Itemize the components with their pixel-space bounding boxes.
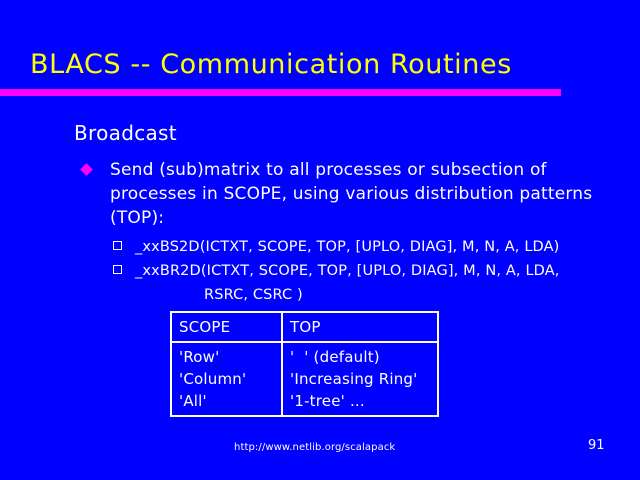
section-subheading: Broadcast <box>74 121 177 145</box>
top-value-default: ' ' (default) <box>290 346 437 368</box>
hollow-square-bullet-icon <box>113 241 122 250</box>
hollow-square-bullet-icon <box>113 265 122 274</box>
table-cell-scope-values: 'Row' 'Column' 'All' <box>171 342 282 416</box>
top-value-one-tree: '1-tree' ... <box>290 390 437 412</box>
sub-bullet-text-1: _xxBS2D(ICTXT, SCOPE, TOP, [UPLO, DIAG],… <box>135 237 605 258</box>
table-header-scope: SCOPE <box>171 312 282 342</box>
main-bullet-text: Send (sub)matrix to all processes or sub… <box>110 158 628 230</box>
scope-value-row: 'Row' <box>179 346 281 368</box>
table-header-row: SCOPE TOP <box>171 312 438 342</box>
table-row: 'Row' 'Column' 'All' ' ' (default) 'Incr… <box>171 342 438 416</box>
footer-url[interactable]: http://www.netlib.org/scalapack <box>234 441 395 454</box>
diamond-bullet-icon <box>80 163 93 176</box>
footer-page-number: 91 <box>588 438 605 454</box>
top-value-increasing-ring: 'Increasing Ring' <box>290 368 437 390</box>
title-underline-bar <box>0 89 561 96</box>
table-cell-top-values: ' ' (default) 'Increasing Ring' '1-tree'… <box>282 342 438 416</box>
page-title: BLACS -- Communication Routines <box>30 49 512 81</box>
scope-value-all: 'All' <box>179 390 281 412</box>
sub-bullet-continuation-text: RSRC, CSRC ) <box>204 285 303 306</box>
scope-value-column: 'Column' <box>179 368 281 390</box>
table-header-top: TOP <box>282 312 438 342</box>
slide: BLACS -- Communication Routines Broadcas… <box>0 0 640 480</box>
scope-top-table: SCOPE TOP 'Row' 'Column' 'All' ' ' (defa… <box>170 311 439 417</box>
sub-bullet-text-2: _xxBR2D(ICTXT, SCOPE, TOP, [UPLO, DIAG],… <box>135 261 605 282</box>
